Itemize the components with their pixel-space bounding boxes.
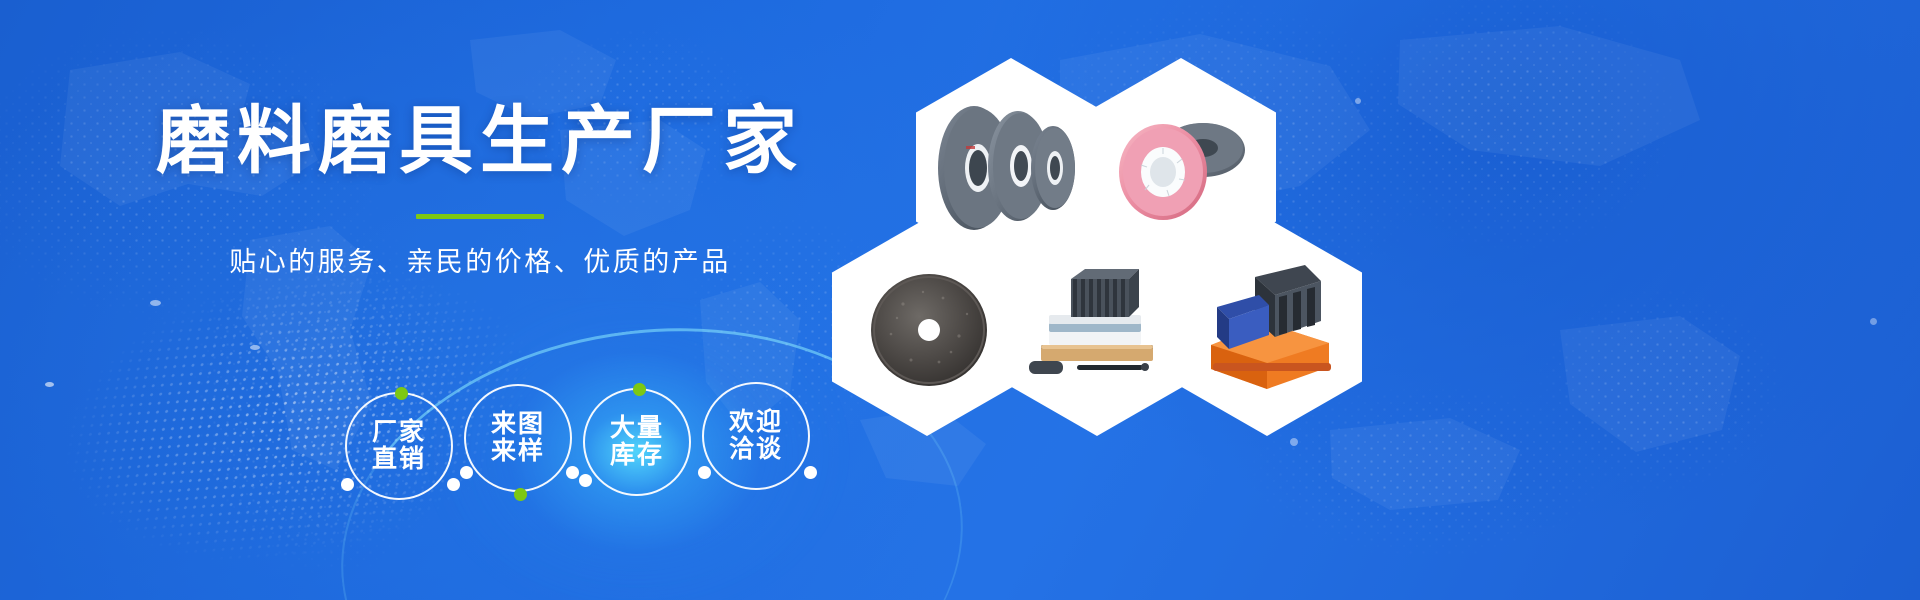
badge-label-line1: 大量 [610, 415, 664, 442]
pink-wheel-icon [1097, 92, 1265, 242]
badge-node-icon [341, 478, 354, 491]
page-subtitle: 贴心的服务、亲民的价格、优质的产品 [0, 240, 880, 279]
badge-node-icon [566, 466, 579, 479]
badge-label-line2: 洽谈 [729, 436, 783, 463]
banner-text-block: 磨料磨具生产厂家 贴心的服务、亲民的价格、优质的产品 [0, 0, 880, 600]
badge-label-line2: 来样 [491, 438, 545, 465]
badge-node-icon [633, 383, 646, 396]
feature-badge-row: 厂家 直销 来图 来样 大量 库存 欢迎 洽谈 [345, 382, 815, 510]
cutting-disc-icon [847, 252, 1007, 402]
badge-label-line1: 厂家 [372, 419, 426, 446]
badge-large-stock[interactable]: 大量 库存 [583, 388, 691, 496]
product-hexagon-grid [890, 58, 1340, 398]
badge-node-icon [447, 478, 460, 491]
badge-factory-direct[interactable]: 厂家 直销 [345, 392, 453, 500]
badge-custom-sample[interactable]: 来图 来样 [464, 384, 572, 492]
badge-node-icon [804, 466, 817, 479]
title-divider [416, 214, 544, 219]
badge-node-icon [460, 466, 473, 479]
badge-node-icon [395, 387, 408, 400]
badge-label-line2: 库存 [610, 442, 664, 469]
badge-label-line1: 欢迎 [729, 409, 783, 436]
sparkle-dot [1870, 318, 1877, 325]
badge-label-line1: 来图 [491, 411, 545, 438]
sparkle-dot [1355, 98, 1361, 104]
badge-welcome-inquiry[interactable]: 欢迎 洽谈 [702, 382, 810, 490]
page-title: 磨料磨具生产厂家 [0, 104, 880, 178]
tool-kit-icon [1183, 257, 1351, 397]
promo-banner: 磨料磨具生产厂家 贴心的服务、亲民的价格、优质的产品 厂家 直销 来图 来样 大… [0, 0, 1920, 600]
badge-node-icon [579, 474, 592, 487]
grinding-wheel-icon [926, 92, 1096, 242]
badge-node-icon [514, 488, 527, 501]
badge-label-line2: 直销 [372, 446, 426, 473]
sharpening-stone-icon [1013, 257, 1181, 397]
sparkle-dot [1290, 438, 1298, 446]
badge-node-icon [698, 466, 711, 479]
